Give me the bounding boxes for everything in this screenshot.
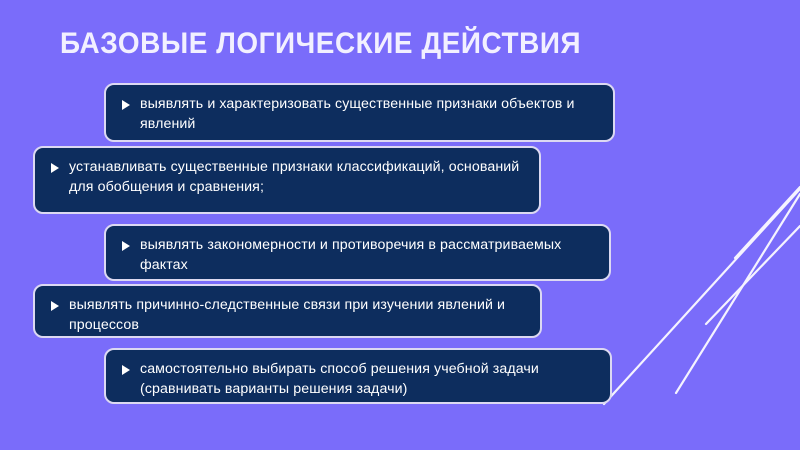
- diagonal-line-1: [604, 189, 800, 404]
- triangle-right-bullet-icon: [51, 301, 59, 311]
- bullet-text-3: выявлять закономерности и противоречия в…: [140, 235, 597, 275]
- bullet-box-2: устанавливать существенные признаки клас…: [33, 146, 541, 214]
- diagonal-line-3: [735, 187, 800, 258]
- bullet-box-5: самостоятельно выбирать способ решения у…: [104, 348, 612, 404]
- triangle-right-bullet-icon: [122, 365, 130, 375]
- page-title: Базовые логические действия: [60, 27, 711, 61]
- bullet-box-1: выявлять и характеризовать существенные …: [104, 83, 615, 142]
- bullet-box-3: выявлять закономерности и противоречия в…: [104, 224, 611, 281]
- bullet-text-4: выявлять причинно-следственные связи при…: [69, 295, 528, 335]
- bullet-text-2: устанавливать существенные признаки клас…: [69, 157, 527, 197]
- triangle-right-bullet-icon: [122, 241, 130, 251]
- slide-canvas: Базовые логические действия выявлять и х…: [0, 0, 800, 450]
- bullet-text-1: выявлять и характеризовать существенные …: [140, 94, 601, 134]
- diagonal-line-2: [676, 194, 800, 393]
- triangle-right-bullet-icon: [51, 163, 59, 173]
- diagonal-line-4: [706, 226, 800, 324]
- bullet-box-4: выявлять причинно-следственные связи при…: [33, 284, 542, 338]
- bullet-text-5: самостоятельно выбирать способ решения у…: [140, 359, 598, 399]
- triangle-right-bullet-icon: [122, 100, 130, 110]
